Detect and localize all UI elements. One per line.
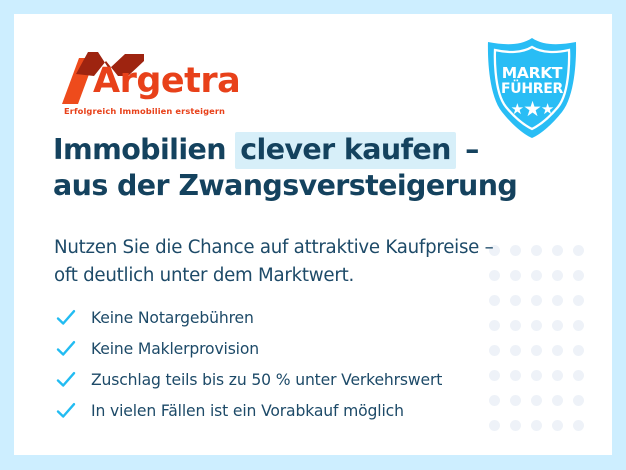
- subheadline-line-1: Nutzen Sie die Chance auf attraktive Kau…: [54, 237, 494, 258]
- brand-logo: Argetra Erfolgreich Immobilien ersteiger…: [62, 52, 252, 104]
- shield-icon: [484, 36, 580, 140]
- subheadline-line-2: oft deutlich unter dem Marktwert.: [54, 265, 354, 286]
- benefit-label: In vielen Fällen ist ein Vorabkauf mögli…: [91, 402, 404, 420]
- list-item: Keine Notargebühren: [56, 302, 442, 333]
- headline-line-2: aus der Zwangsversteigerung: [53, 169, 517, 202]
- logo-mark-row: Argetra Erfolgreich Immobilien ersteiger…: [62, 52, 252, 104]
- benefit-label: Keine Notargebühren: [91, 309, 254, 327]
- headline-highlight: clever kaufen: [235, 132, 456, 169]
- subheadline: Nutzen Sie die Chance auf attraktive Kau…: [54, 234, 494, 289]
- page-title: Immobilien clever kaufen – aus der Zwang…: [53, 132, 517, 205]
- benefit-list: Keine Notargebühren Keine Maklerprovisio…: [56, 302, 442, 426]
- logo-wordmark: Argetra: [93, 64, 240, 99]
- check-icon: [56, 339, 76, 359]
- list-item: Keine Maklerprovision: [56, 333, 442, 364]
- decorative-dot-grid: [489, 245, 594, 445]
- benefit-label: Zuschlag teils bis zu 50 % unter Verkehr…: [91, 371, 442, 389]
- benefit-label: Keine Maklerprovision: [91, 340, 259, 358]
- check-icon: [56, 370, 76, 390]
- banner-canvas: Argetra Erfolgreich Immobilien ersteiger…: [14, 14, 612, 455]
- check-icon: [56, 401, 76, 421]
- list-item: Zuschlag teils bis zu 50 % unter Verkehr…: [56, 364, 442, 395]
- headline-part-1: Immobilien: [53, 133, 235, 166]
- headline-part-2: –: [456, 133, 479, 166]
- market-leader-badge: MARKT FÜHRER ★★★: [484, 36, 580, 140]
- ad-banner: Argetra Erfolgreich Immobilien ersteiger…: [0, 0, 626, 470]
- check-icon: [56, 308, 76, 328]
- list-item: In vielen Fällen ist ein Vorabkauf mögli…: [56, 395, 442, 426]
- logo-tagline: Erfolgreich Immobilien ersteigern: [64, 106, 225, 116]
